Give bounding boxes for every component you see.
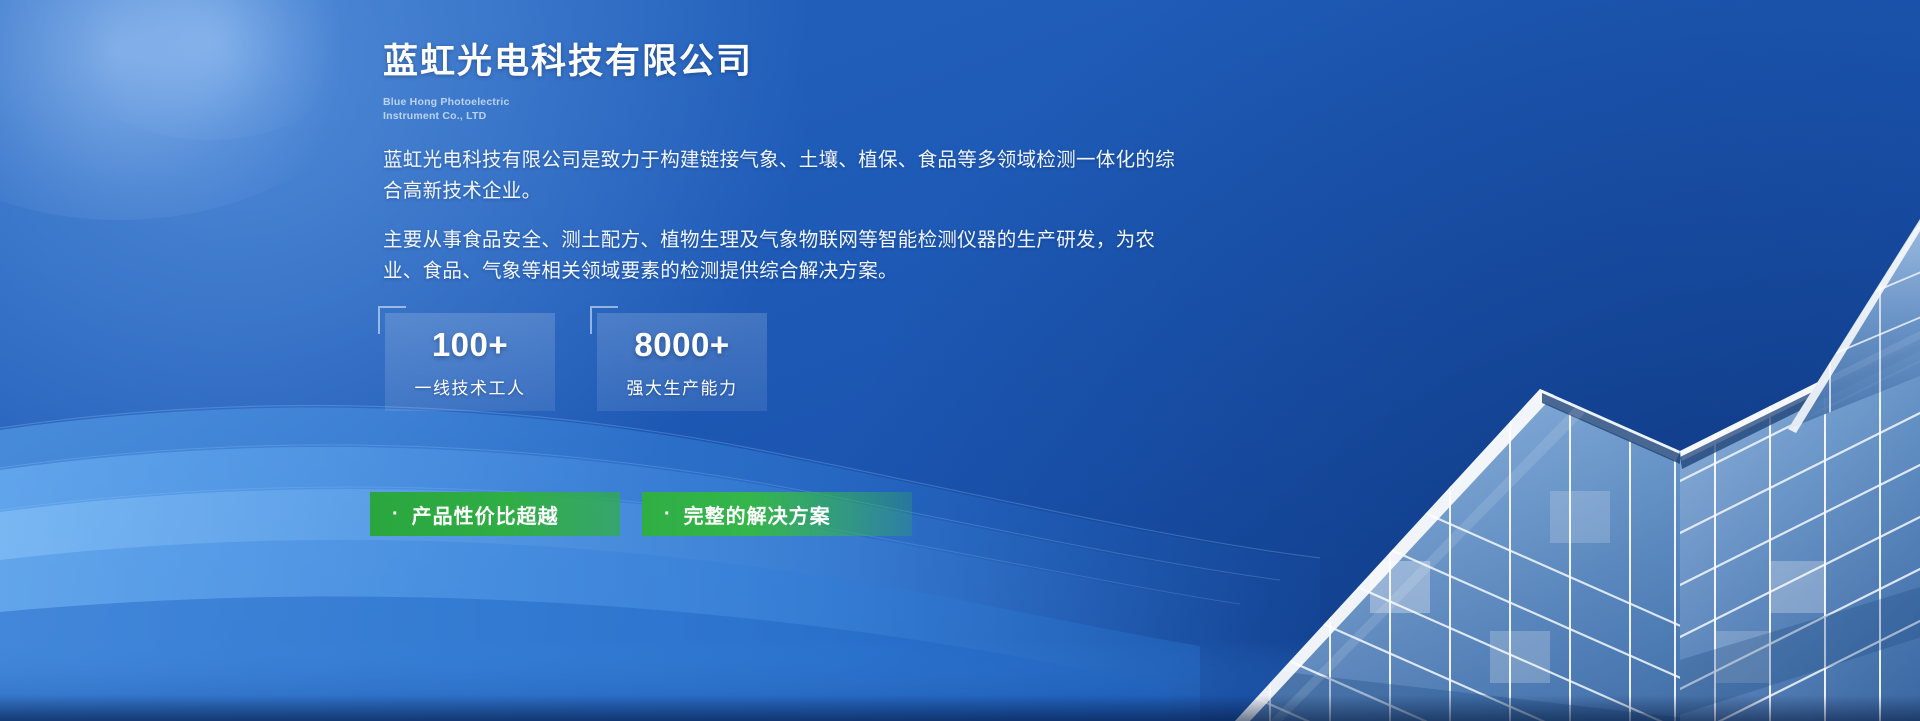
feature-tag-solution: · 完整的解决方案 <box>642 492 912 536</box>
brand-english-line-2: Instrument Co., LTD <box>383 109 1203 123</box>
stat-label: 一线技术工人 <box>415 374 526 399</box>
bullet-dot-icon: · <box>392 504 400 524</box>
brand-english-line-1: Blue Hong Photoelectric <box>383 95 1203 109</box>
stat-number: 100+ <box>432 326 508 364</box>
stat-card-capacity: 8000+ 强大生产能力 <box>597 313 767 411</box>
stat-card-workers: 100+ 一线技术工人 <box>385 313 555 411</box>
brand-english-name: Blue Hong Photoelectric Instrument Co., … <box>383 95 1203 123</box>
intro-paragraph-1: 蓝虹光电科技有限公司是致力于构建链接气象、土壤、植保、食品等多领域检测一体化的综… <box>383 145 1183 207</box>
cloud-glow-small <box>60 0 360 140</box>
feature-tag-value: · 产品性价比超越 <box>370 492 620 536</box>
page-title: 蓝虹光电科技有限公司 <box>383 38 1203 85</box>
stat-label: 强大生产能力 <box>627 374 738 399</box>
statistics-group: 100+ 一线技术工人 8000+ 强大生产能力 <box>385 313 767 411</box>
feature-tag-label: 产品性价比超越 <box>412 500 559 529</box>
cloud-glow-large <box>0 0 380 220</box>
feature-tag-group: · 产品性价比超越 · 完整的解决方案 <box>370 492 912 536</box>
bottom-vignette <box>0 695 1920 721</box>
stat-number: 8000+ <box>634 326 729 364</box>
bullet-dot-icon: · <box>664 504 672 524</box>
hero-banner: 蓝虹光电科技有限公司 Blue Hong Photoelectric Instr… <box>0 0 1920 721</box>
hero-copy-block: 蓝虹光电科技有限公司 Blue Hong Photoelectric Instr… <box>383 38 1203 287</box>
feature-tag-label: 完整的解决方案 <box>684 500 831 529</box>
intro-paragraph-2: 主要从事食品安全、测土配方、植物生理及气象物联网等智能检测仪器的生产研发，为农业… <box>383 225 1183 287</box>
